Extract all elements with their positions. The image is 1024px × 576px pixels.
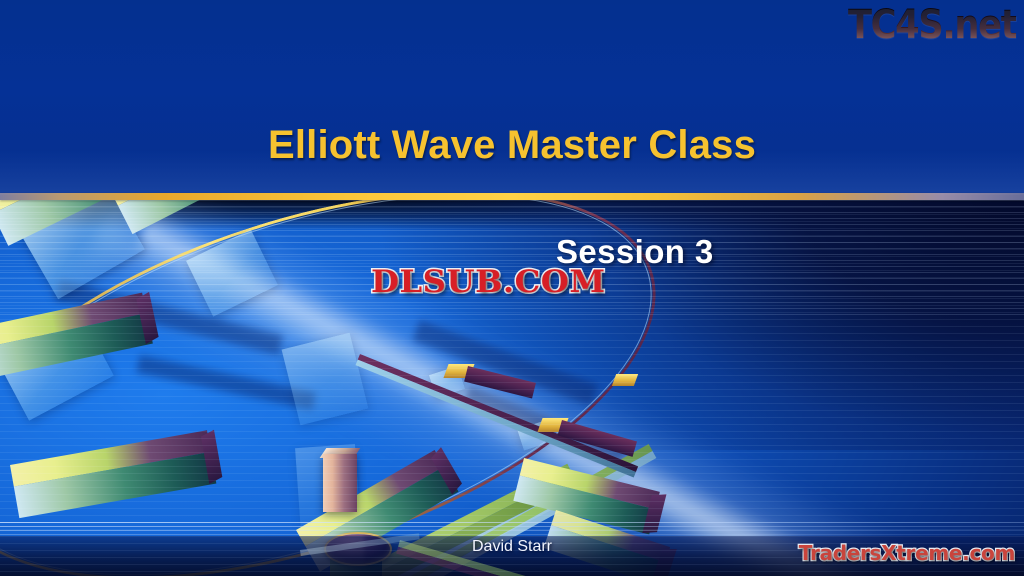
- presentation-slide: Elliott Wave Master Class Session 3 Davi…: [0, 0, 1024, 576]
- watermark-tc4s: TC4S.net: [848, 2, 1016, 48]
- decorative-graphic-stage: [0, 200, 1024, 576]
- page-title: Elliott Wave Master Class: [0, 123, 1024, 168]
- gold-divider-rule: [0, 193, 1024, 200]
- watermark-dlsub: DLSUB.COM: [371, 264, 606, 300]
- scanline-overlay-top: [0, 200, 1024, 320]
- watermark-tradersxtreme: TradersXtreme.com: [799, 541, 1015, 565]
